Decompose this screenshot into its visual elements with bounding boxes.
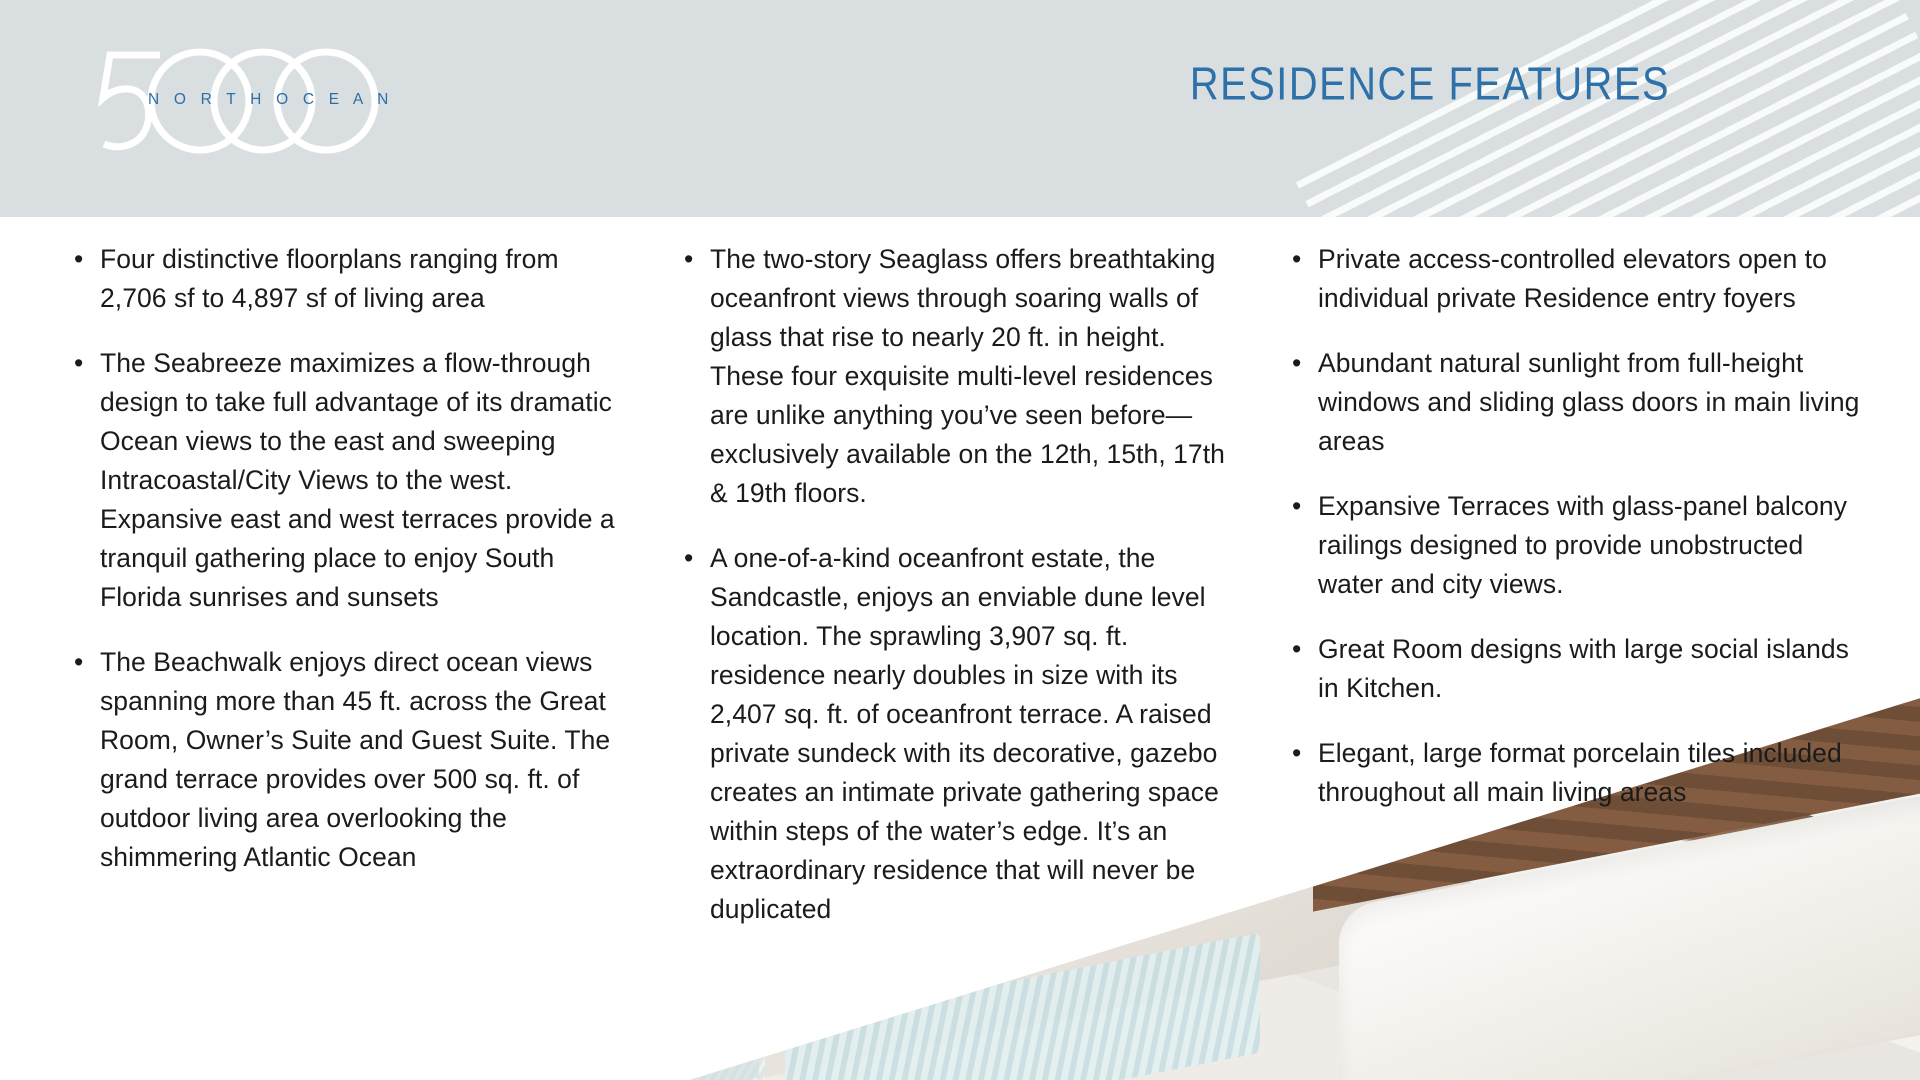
bullet-text: Great Room designs with large social isl… — [1318, 634, 1849, 703]
bullet-text: Abundant natural sunlight from full-heig… — [1318, 348, 1859, 456]
features-column-2: • The two-story Seaglass offers breathta… — [682, 240, 1242, 955]
list-item: • Private access-controlled elevators op… — [1290, 240, 1860, 318]
bullet-text: A one-of-a-kind oceanfront estate, the S… — [710, 543, 1219, 924]
brand-logo: N O R T H O C E A N — [88, 44, 388, 154]
page-title: RESIDENCE FEATURES — [1190, 58, 1670, 111]
bullet-text: The Beachwalk enjoys direct ocean views … — [100, 647, 610, 872]
bullet-marker-icon: • — [1292, 344, 1301, 383]
bullet-marker-icon: • — [74, 240, 83, 279]
features-column-1: • Four distinctive floorplans ranging fr… — [72, 240, 617, 903]
list-item: • The Beachwalk enjoys direct ocean view… — [72, 643, 617, 877]
list-item: • Elegant, large format porcelain tiles … — [1290, 734, 1860, 812]
bullet-list-3: • Private access-controlled elevators op… — [1290, 240, 1860, 812]
bullet-text: Private access-controlled elevators open… — [1318, 244, 1827, 313]
bullet-text: Four distinctive floorplans ranging from… — [100, 244, 559, 313]
list-item: • The Seabreeze maximizes a flow-through… — [72, 344, 617, 617]
bullet-marker-icon: • — [1292, 240, 1301, 279]
logo-subtitle: N O R T H O C E A N — [148, 91, 394, 109]
bullet-marker-icon: • — [1292, 630, 1301, 669]
bullet-marker-icon: • — [74, 643, 83, 682]
bullet-marker-icon: • — [1292, 487, 1301, 526]
bullet-text: Expansive Terraces with glass-panel balc… — [1318, 491, 1847, 599]
list-item: • A one-of-a-kind oceanfront estate, the… — [682, 539, 1242, 929]
bullet-marker-icon: • — [684, 240, 693, 279]
list-item: • Expansive Terraces with glass-panel ba… — [1290, 487, 1860, 604]
bullet-text: The two-story Seaglass offers breathtaki… — [710, 244, 1225, 508]
bullet-marker-icon: • — [74, 344, 83, 383]
bullet-marker-icon: • — [1292, 734, 1301, 773]
bullet-text: Elegant, large format porcelain tiles in… — [1318, 738, 1842, 807]
bullet-list-2: • The two-story Seaglass offers breathta… — [682, 240, 1242, 929]
list-item: • Four distinctive floorplans ranging fr… — [72, 240, 617, 318]
list-item: • Great Room designs with large social i… — [1290, 630, 1860, 708]
bullet-text: The Seabreeze maximizes a flow-through d… — [100, 348, 615, 612]
bullet-list-1: • Four distinctive floorplans ranging fr… — [72, 240, 617, 877]
list-item: • Abundant natural sunlight from full-he… — [1290, 344, 1860, 461]
features-column-3: • Private access-controlled elevators op… — [1290, 240, 1860, 838]
features-columns: • Four distinctive floorplans ranging fr… — [0, 240, 1920, 1040]
list-item: • The two-story Seaglass offers breathta… — [682, 240, 1242, 513]
bullet-marker-icon: • — [684, 539, 693, 578]
page-header: N O R T H O C E A N RESIDENCE FEATURES — [0, 0, 1920, 217]
